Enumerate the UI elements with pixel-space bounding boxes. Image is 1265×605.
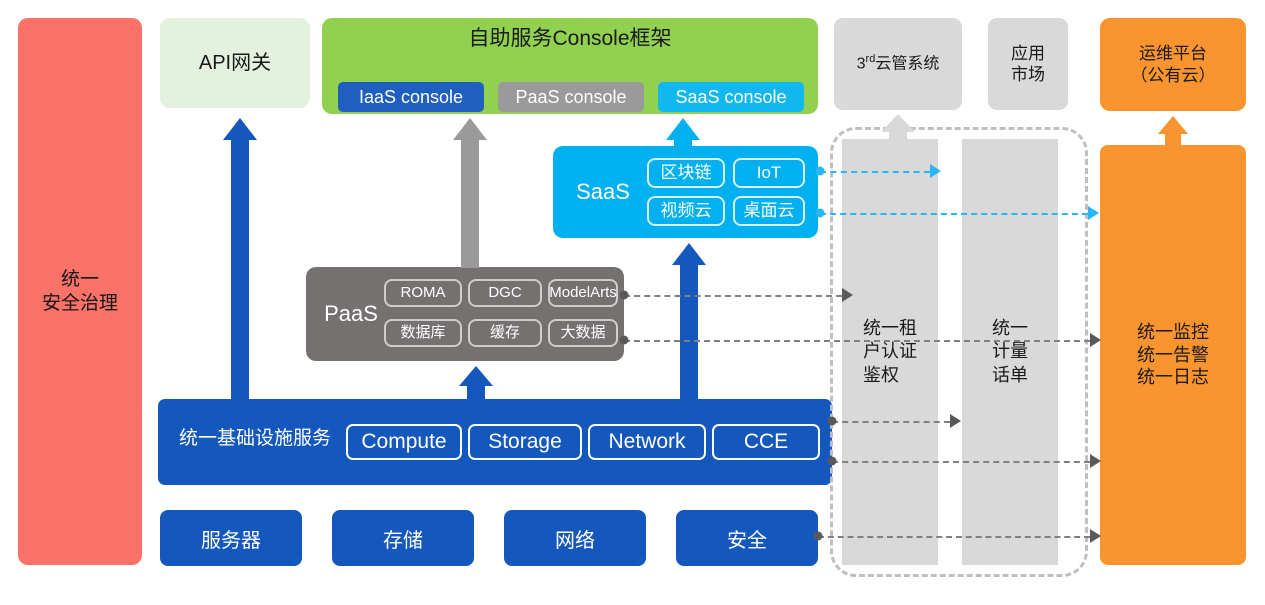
infra-service-cce[interactable]: CCE	[712, 424, 820, 460]
link-saas-to-auth	[820, 171, 930, 173]
link-origin-dot	[816, 209, 825, 218]
saas-console-chip[interactable]: SaaS console	[658, 82, 804, 112]
paas-service-cache[interactable]: 缓存	[468, 319, 542, 347]
link-paas-to-ops	[624, 340, 1090, 342]
hardware-security-box[interactable]: 安全	[676, 510, 818, 566]
arrow-shaft	[231, 138, 249, 400]
link-hardware-to-ops	[818, 536, 1090, 538]
security-governance-column: 统一安全治理	[18, 18, 142, 565]
paas-service-roma[interactable]: ROMA	[384, 279, 462, 307]
saas-service-iot[interactable]: IoT	[733, 158, 805, 188]
shared-service-metering-label: 统一计量话单	[992, 317, 1028, 387]
paas-service-database[interactable]: 数据库	[384, 319, 462, 347]
link-origin-dot	[816, 167, 825, 176]
arrow-head-up-icon	[453, 118, 487, 140]
arrow-shaft	[680, 263, 698, 401]
link-paas-to-auth	[624, 295, 842, 297]
infra-service-storage[interactable]: Storage	[468, 424, 582, 460]
link-arrow-head-icon	[842, 288, 853, 302]
ops-monitoring-column: 统一监控统一告警统一日志	[1100, 145, 1246, 565]
third-party-cloud-label: 3rd云管系统	[857, 53, 940, 74]
link-infra-to-ops	[832, 461, 1090, 463]
arrow-head-up-icon	[666, 118, 700, 140]
saas-service-blockchain[interactable]: 区块链	[647, 158, 725, 188]
infra-service-compute[interactable]: Compute	[346, 424, 462, 460]
infrastructure-service-title: 统一基础设施服务	[170, 427, 340, 451]
infra-service-network[interactable]: Network	[588, 424, 706, 460]
app-market-box: 应用市场	[988, 18, 1068, 110]
api-gateway-box[interactable]: API网关	[160, 18, 310, 108]
arrow-shaft	[889, 130, 907, 144]
saas-layer-box: SaaS 区块链 IoT 视频云 桌面云	[553, 146, 818, 238]
ops-platform-label: 运维平台（公有云）	[1131, 43, 1216, 86]
link-arrow-head-icon	[950, 414, 961, 428]
architecture-diagram: 统一安全治理 API网关 自助服务Console框架 IaaS console …	[0, 0, 1265, 605]
saas-service-video-cloud[interactable]: 视频云	[647, 196, 725, 226]
link-infra-to-auth	[832, 421, 950, 423]
arrow-paas-to-console	[453, 118, 487, 268]
link-arrow-head-icon	[1090, 529, 1101, 543]
shared-service-metering: 统一计量话单	[962, 139, 1058, 565]
api-gateway-label: API网关	[199, 51, 271, 76]
arrow-to-third-party-cloud	[881, 114, 915, 144]
link-saas-to-ops	[820, 213, 1088, 215]
paas-console-chip[interactable]: PaaS console	[498, 82, 644, 112]
shared-service-tenant-auth: 统一租户认证鉴权	[842, 139, 938, 565]
paas-layer-label: PaaS	[314, 300, 388, 328]
arrow-shaft	[1165, 132, 1181, 146]
arrow-infra-to-saas	[672, 243, 706, 401]
link-origin-dot	[814, 532, 823, 541]
security-governance-label: 统一安全治理	[42, 268, 118, 316]
arrow-shaft	[467, 384, 485, 400]
saas-layer-label: SaaS	[563, 178, 643, 206]
infrastructure-service-bar: 统一基础设施服务 Compute Storage Network CCE	[158, 399, 832, 485]
third-party-cloud-mgmt-box: 3rd云管系统	[834, 18, 962, 110]
arrow-head-up-icon	[672, 243, 706, 265]
link-origin-dot	[828, 417, 837, 426]
hardware-storage-box[interactable]: 存储	[332, 510, 474, 566]
iaas-console-chip[interactable]: IaaS console	[338, 82, 484, 112]
paas-service-bigdata[interactable]: 大数据	[548, 319, 618, 347]
link-origin-dot	[620, 336, 629, 345]
hardware-network-box[interactable]: 网络	[504, 510, 646, 566]
link-arrow-head-icon	[1090, 333, 1101, 347]
arrow-infra-to-api-gateway	[223, 118, 257, 400]
ops-platform-box: 运维平台（公有云）	[1100, 18, 1246, 111]
link-arrow-head-icon	[1090, 454, 1101, 468]
arrow-shaft	[461, 138, 479, 268]
arrow-infra-to-paas	[459, 366, 493, 400]
console-frame-title: 自助服务Console框架	[322, 26, 818, 52]
shared-service-tenant-auth-label: 统一租户认证鉴权	[863, 317, 917, 387]
app-market-label: 应用市场	[1011, 43, 1045, 86]
third-party-superscript: rd	[866, 53, 876, 65]
link-arrow-head-icon	[930, 164, 941, 178]
paas-service-modelarts[interactable]: ModelArts	[548, 279, 618, 307]
link-arrow-head-icon	[1088, 206, 1099, 220]
link-origin-dot	[828, 457, 837, 466]
paas-service-dgc[interactable]: DGC	[468, 279, 542, 307]
arrow-head-up-icon	[223, 118, 257, 140]
hardware-server-box[interactable]: 服务器	[160, 510, 302, 566]
arrow-to-ops-platform	[1156, 116, 1190, 146]
ops-monitoring-label: 统一监控统一告警统一日志	[1137, 321, 1209, 389]
console-frame-box: 自助服务Console框架 IaaS console PaaS console …	[322, 18, 818, 114]
arrow-shaft	[674, 138, 692, 148]
paas-layer-box: PaaS ROMA DGC ModelArts 数据库 缓存 大数据	[306, 267, 624, 361]
third-party-suffix: 云管系统	[875, 56, 939, 73]
arrow-saas-to-console	[666, 118, 700, 148]
saas-service-desktop-cloud[interactable]: 桌面云	[733, 196, 805, 226]
link-origin-dot	[620, 291, 629, 300]
third-party-prefix: 3	[857, 56, 866, 73]
arrow-head-up-icon	[459, 366, 493, 386]
